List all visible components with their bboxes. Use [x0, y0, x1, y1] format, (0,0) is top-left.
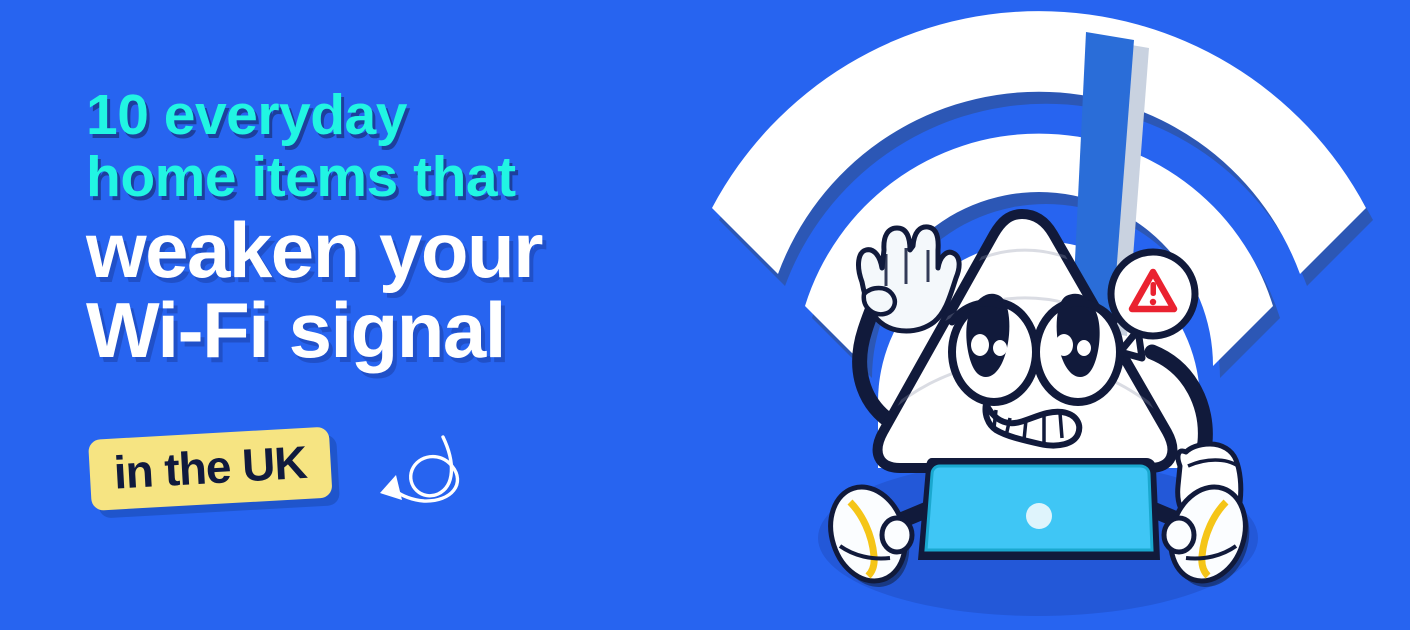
left-arm — [860, 282, 905, 430]
right-arm — [1152, 352, 1205, 466]
no-signal-slash-shadow — [1087, 40, 1149, 336]
headline-line-2: home items that — [86, 150, 726, 206]
uk-badge-label: in the UK — [113, 439, 308, 496]
left-leg — [888, 500, 950, 526]
wifi-arc-middle-shadow — [812, 146, 1280, 378]
headline-line-4: Wi-Fi signal — [86, 292, 726, 368]
waving-hand — [859, 227, 960, 331]
right-shoe — [1159, 477, 1261, 597]
uk-badge: in the UK — [88, 427, 332, 511]
wifi-arc-middle — [805, 134, 1273, 366]
mascot-body-triangle — [862, 214, 1186, 468]
mascot-eyes — [952, 294, 1120, 402]
curly-arrow — [380, 437, 457, 501]
no-signal-slash — [1072, 32, 1134, 328]
wifi-arc-inner — [878, 241, 1200, 468]
headline-block: 10 everyday home items that weaken your … — [86, 88, 726, 373]
right-leg — [1130, 500, 1192, 526]
headline-line-3: weaken your — [86, 212, 726, 288]
headline-line-1: 10 everyday — [86, 88, 726, 144]
uk-badge-wrapper: in the UK — [88, 427, 332, 511]
laptop — [918, 458, 1160, 560]
laptop-logo — [1026, 503, 1052, 529]
warning-triangle-icon — [1132, 272, 1174, 309]
mascot-mouth — [985, 404, 1079, 446]
alert-speech-bubble — [1111, 252, 1195, 358]
resting-hand — [1178, 444, 1241, 527]
wifi-arc-outer-shadow — [719, 23, 1373, 286]
wifi-promo-banner: 10 everyday home items that weaken your … — [0, 0, 1410, 630]
wifi-arc-outer — [712, 11, 1366, 274]
left-shoe — [819, 477, 921, 597]
ground-shadow-ellipse — [818, 460, 1258, 616]
